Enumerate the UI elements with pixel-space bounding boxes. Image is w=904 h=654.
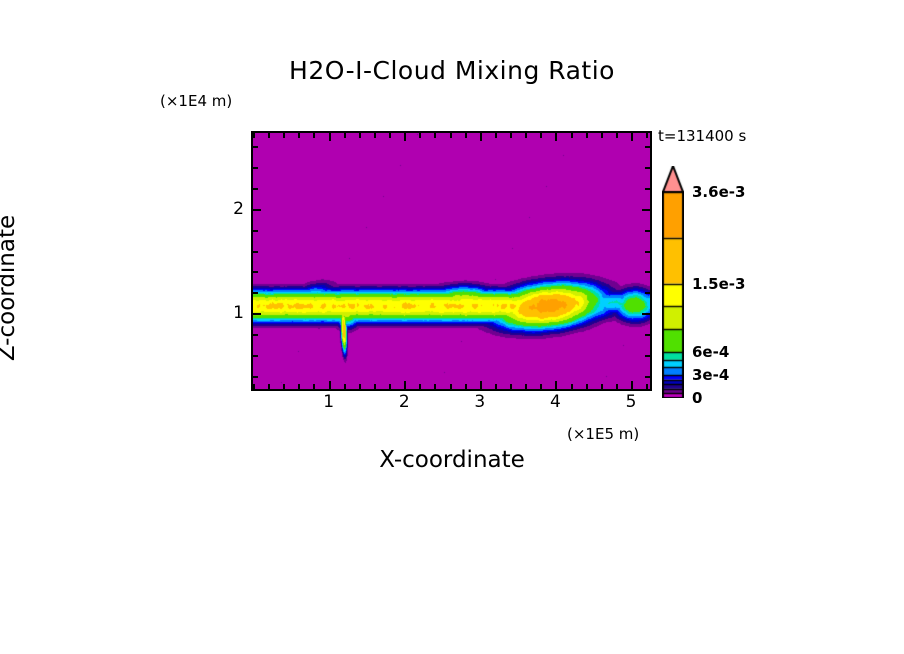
x-tick-top: [540, 133, 542, 138]
x-tick-top: [344, 133, 346, 138]
y-tick-label: 2: [228, 199, 244, 219]
x-tick-bottom: [495, 384, 497, 389]
y-axis-unit-label: (×1E4 m): [160, 92, 232, 110]
x-tick-bottom: [646, 384, 648, 389]
x-tick-bottom: [419, 384, 421, 389]
y-tick-left: [253, 313, 261, 315]
y-tick-left: [253, 146, 258, 148]
contour-plot-area: [251, 131, 652, 391]
y-tick-left: [253, 209, 261, 211]
x-tick-top: [374, 133, 376, 138]
x-tick-top: [616, 133, 618, 138]
x-tick-bottom: [571, 384, 573, 389]
x-tick-label: 5: [626, 392, 637, 412]
x-tick-top: [525, 133, 527, 138]
x-tick-bottom: [510, 384, 512, 389]
x-tick-bottom: [268, 384, 270, 389]
x-tick-bottom: [450, 384, 452, 389]
x-tick-bottom: [313, 384, 315, 389]
y-tick-right: [645, 292, 650, 294]
x-tick-top: [419, 133, 421, 138]
y-tick-right: [642, 209, 650, 211]
colorbar-tick-label: 3.6e-3: [692, 183, 745, 201]
x-tick-top: [283, 133, 285, 138]
y-tick-label: 1: [228, 303, 244, 323]
colorbar-tick-label: 3e-4: [692, 366, 729, 384]
x-tick-bottom: [616, 384, 618, 389]
y-tick-right: [642, 313, 650, 315]
x-axis-title: X-coordinate: [0, 447, 904, 473]
x-tick-bottom: [389, 384, 391, 389]
colorbar-tick-label: 1.5e-3: [692, 275, 745, 293]
colorbar-tick-label: 6e-4: [692, 343, 729, 361]
x-tick-top: [480, 133, 482, 141]
x-tick-top: [571, 133, 573, 138]
x-tick-top: [646, 133, 648, 138]
page-title: H2O-I-Cloud Mixing Ratio: [0, 56, 904, 85]
x-tick-bottom: [465, 384, 467, 389]
x-tick-top: [495, 133, 497, 138]
y-tick-right: [645, 188, 650, 190]
x-tick-top: [465, 133, 467, 138]
x-tick-bottom: [359, 384, 361, 389]
y-tick-right: [645, 146, 650, 148]
y-tick-left: [253, 251, 258, 253]
x-tick-bottom: [540, 384, 542, 389]
y-tick-right: [645, 167, 650, 169]
y-tick-right: [645, 251, 650, 253]
y-axis-title: Z-coordinate: [0, 168, 20, 408]
x-tick-label: 2: [399, 392, 410, 412]
x-tick-bottom: [374, 384, 376, 389]
y-tick-left: [253, 188, 258, 190]
x-tick-label: 3: [474, 392, 485, 412]
x-tick-bottom: [253, 384, 255, 389]
x-tick-bottom: [601, 384, 603, 389]
y-tick-right: [645, 271, 650, 273]
x-tick-top: [298, 133, 300, 138]
x-tick-top: [313, 133, 315, 138]
x-tick-label: 1: [323, 392, 334, 412]
y-tick-left: [253, 334, 258, 336]
x-tick-label: 4: [550, 392, 561, 412]
y-tick-left: [253, 376, 258, 378]
figure-canvas: H2O-I-Cloud Mixing Ratio (×1E4 m) (×1E5 …: [0, 0, 904, 654]
x-tick-top: [359, 133, 361, 138]
x-tick-top: [404, 133, 406, 141]
y-tick-right: [645, 230, 650, 232]
x-tick-bottom: [329, 381, 331, 389]
x-tick-bottom: [555, 381, 557, 389]
x-tick-bottom: [480, 381, 482, 389]
x-tick-top: [631, 133, 633, 141]
x-tick-top: [450, 133, 452, 138]
x-tick-top: [434, 133, 436, 138]
y-tick-left: [253, 355, 258, 357]
x-tick-bottom: [404, 381, 406, 389]
y-tick-left: [253, 167, 258, 169]
x-tick-bottom: [434, 384, 436, 389]
x-tick-bottom: [298, 384, 300, 389]
x-tick-top: [555, 133, 557, 141]
x-tick-bottom: [631, 381, 633, 389]
x-tick-bottom: [283, 384, 285, 389]
x-tick-bottom: [586, 384, 588, 389]
contour-field: [253, 133, 650, 389]
x-tick-top: [268, 133, 270, 138]
x-tick-top: [253, 133, 255, 138]
x-tick-bottom: [525, 384, 527, 389]
y-tick-left: [253, 230, 258, 232]
timestamp-label: t=131400 s: [658, 127, 746, 145]
y-tick-right: [645, 334, 650, 336]
x-tick-top: [601, 133, 603, 138]
y-tick-left: [253, 271, 258, 273]
colorbar-tick-label: 0: [692, 389, 702, 407]
y-tick-left: [253, 292, 258, 294]
y-tick-right: [645, 355, 650, 357]
x-axis-unit-label: (×1E5 m): [567, 425, 639, 443]
x-tick-top: [586, 133, 588, 138]
x-tick-top: [329, 133, 331, 141]
y-tick-right: [645, 376, 650, 378]
colorbar: [662, 166, 684, 398]
x-tick-top: [389, 133, 391, 138]
x-tick-top: [510, 133, 512, 138]
x-tick-bottom: [344, 384, 346, 389]
